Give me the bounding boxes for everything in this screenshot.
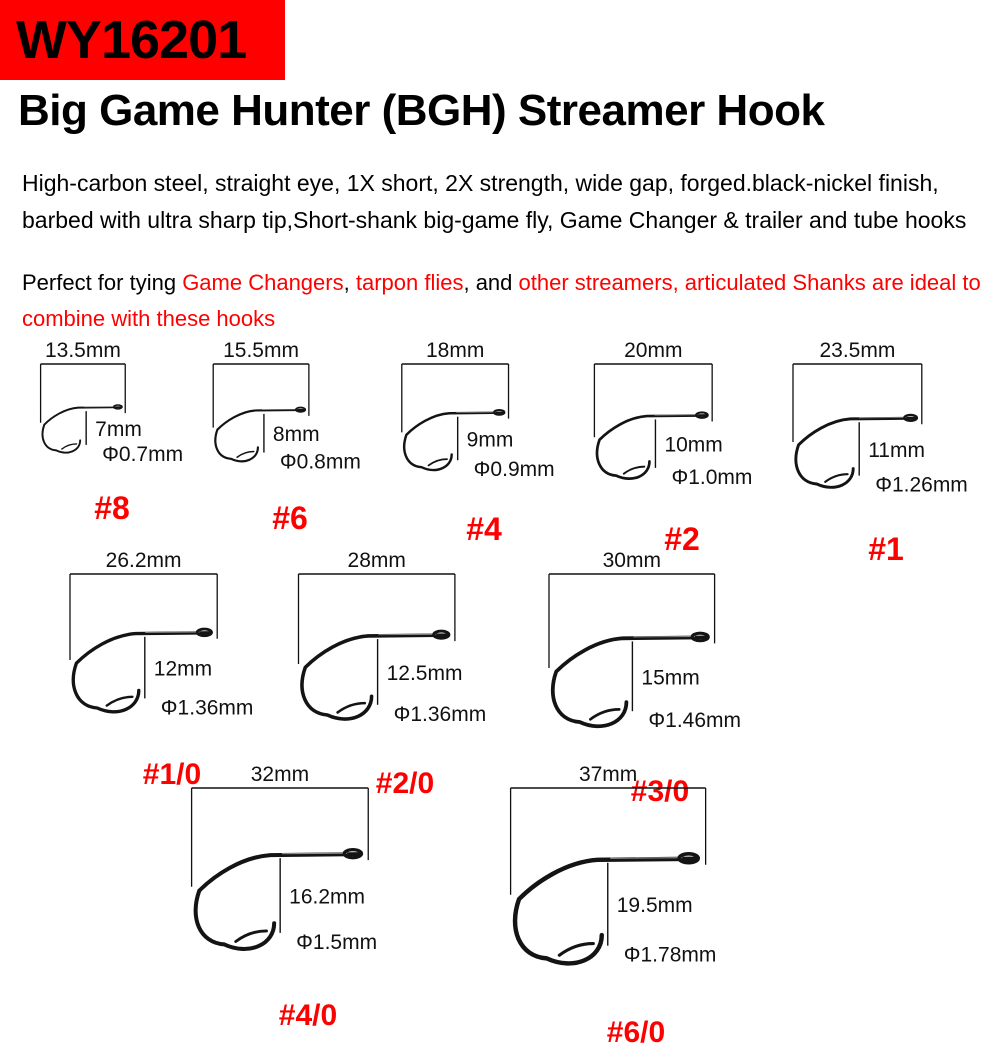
hook-spec-30: 30mm15mmΦ1.46mm#3/0	[540, 562, 870, 783]
hook-size-label: #8	[36, 492, 188, 524]
gap-value: 12.5mm	[387, 662, 463, 685]
length-value: 30mm	[603, 549, 661, 572]
length-value: 20mm	[624, 339, 682, 362]
gap-value: 19.5mm	[617, 894, 693, 917]
wire-diameter-value: Φ0.9mm	[474, 458, 555, 481]
gap-dimension: 7mm	[86, 411, 142, 445]
gap-dimension: 15mm	[632, 641, 699, 711]
length-value: 18mm	[426, 339, 484, 362]
gap-value: 10mm	[664, 434, 722, 457]
wire-diameter-value: Φ1.26mm	[875, 474, 968, 497]
hook-spec-60: 37mm19.5mmΦ1.78mm#6/0	[500, 776, 862, 1024]
wire-diameter-value: Φ1.36mm	[161, 696, 254, 719]
gap-value: 12mm	[154, 658, 212, 681]
hook-spec-40: 32mm16.2mmΦ1.5mm#4/0	[182, 776, 524, 1007]
wire-diameter-value: Φ1.5mm	[296, 931, 377, 954]
hook-diagram: 23.5mm11mmΦ1.26mm	[786, 352, 1000, 539]
gap-value: 16.2mm	[289, 886, 365, 909]
gap-dimension: 12.5mm	[378, 639, 463, 705]
gap-dimension: 16.2mm	[280, 858, 365, 933]
wire-diameter-value: Φ1.78mm	[624, 944, 717, 967]
gap-value: 15mm	[641, 666, 699, 689]
wire-diameter-value: Φ0.7mm	[102, 443, 183, 466]
hook-spec-1: 23.5mm11mmΦ1.26mm#1	[786, 352, 1000, 539]
gap-value: 11mm	[868, 439, 925, 462]
length-value: 28mm	[348, 549, 406, 572]
length-dimension: 26.2mm	[70, 549, 217, 660]
hook-size-label: #6	[208, 502, 372, 534]
gap-dimension: 9mm	[458, 417, 514, 461]
wire-diameter-value: Φ1.36mm	[394, 703, 487, 726]
hook-diagram: 37mm19.5mmΦ1.78mm	[500, 776, 862, 1024]
length-value: 13.5mm	[45, 339, 121, 362]
hook-diagram: 32mm16.2mmΦ1.5mm	[182, 776, 524, 1007]
length-dimension: 20mm	[594, 339, 712, 437]
gap-dimension: 8mm	[264, 414, 320, 453]
length-dimension: 15.5mm	[213, 339, 309, 428]
hook-size-label: #1	[786, 533, 986, 565]
gap-value: 9mm	[467, 428, 514, 451]
length-value: 37mm	[579, 763, 637, 786]
length-dimension: 28mm	[299, 549, 455, 664]
length-dimension: 18mm	[402, 339, 509, 432]
length-value: 32mm	[251, 763, 309, 786]
length-dimension: 13.5mm	[41, 339, 126, 423]
gap-dimension: 12mm	[145, 637, 212, 699]
gap-dimension: 10mm	[655, 419, 722, 467]
wire-diameter-value: Φ0.8mm	[280, 451, 361, 474]
wire-diameter-value: Φ1.46mm	[648, 709, 741, 732]
hook-size-chart: 13.5mm7mmΦ0.7mm#815.5mm8mmΦ0.8mm#618mm9m…	[0, 0, 1000, 1000]
gap-value: 7mm	[95, 418, 142, 441]
gap-dimension: 11mm	[859, 422, 925, 475]
hook-size-label: #6/0	[500, 1018, 772, 1048]
length-value: 26.2mm	[106, 549, 182, 572]
length-value: 15.5mm	[223, 339, 299, 362]
hook-diagram: 30mm15mmΦ1.46mm	[540, 562, 870, 783]
gap-dimension: 19.5mm	[608, 863, 693, 946]
wire-diameter-value: Φ1.0mm	[671, 466, 752, 489]
hook-size-label: #4/0	[182, 1001, 434, 1031]
length-value: 23.5mm	[819, 339, 895, 362]
hook-size-label: #4	[396, 513, 572, 545]
gap-value: 8mm	[273, 423, 320, 446]
length-dimension: 23.5mm	[793, 339, 922, 442]
